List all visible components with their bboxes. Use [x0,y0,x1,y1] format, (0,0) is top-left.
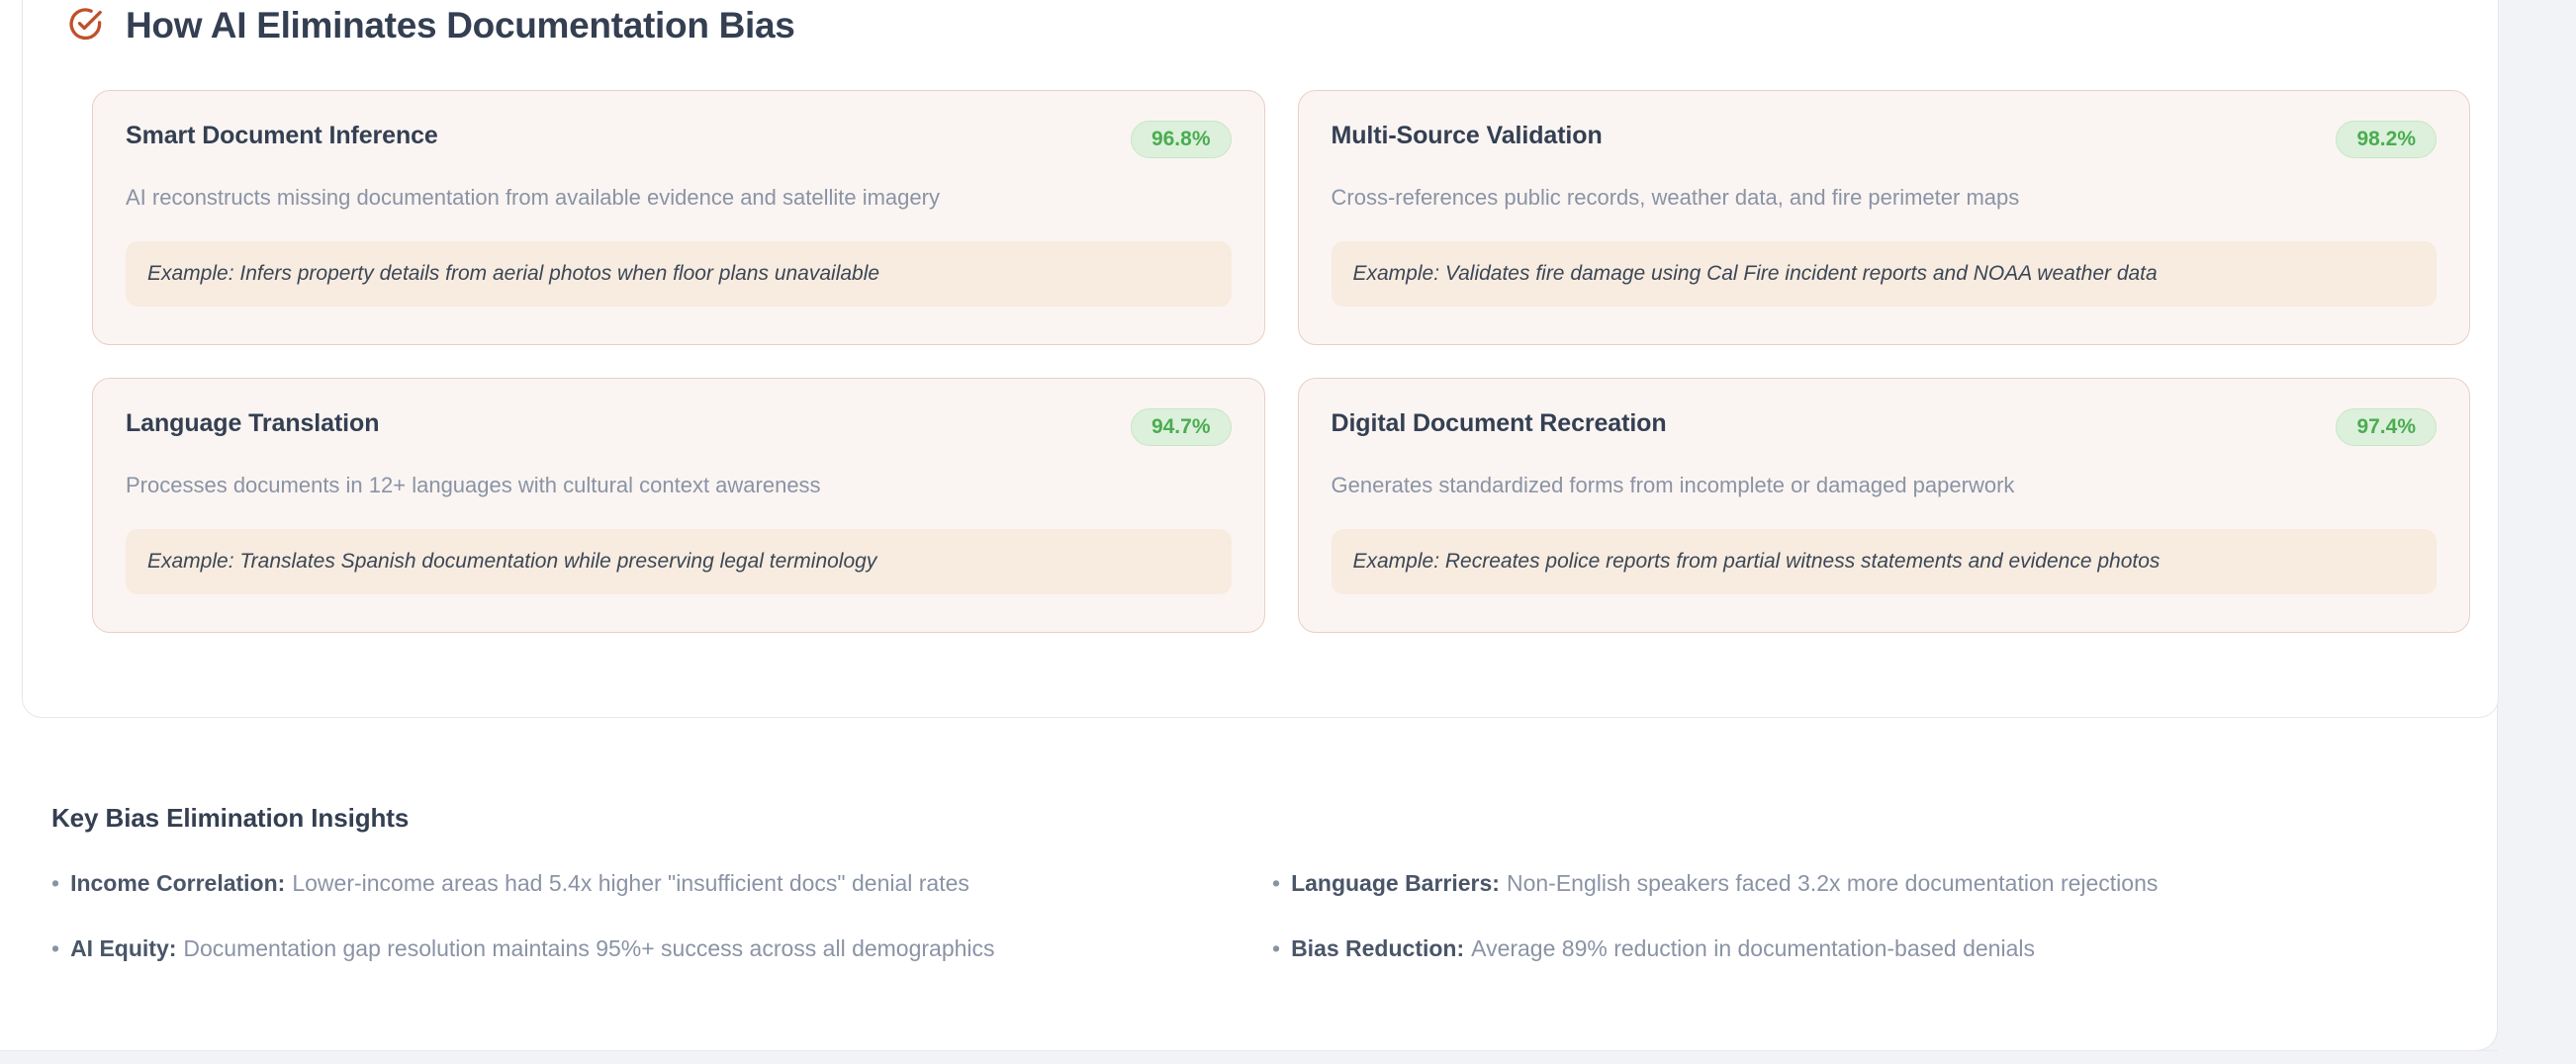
bullet-icon: • [51,867,59,899]
insight-label: AI Equity: [70,935,176,961]
panel-header: How AI Eliminates Documentation Bias [66,6,795,44]
page-surface: How AI Eliminates Documentation Bias Sma… [0,0,2498,1051]
card-example-text: Example: Recreates police reports from p… [1353,547,2416,576]
list-item: • Income Correlation:Lower-income areas … [51,867,1235,899]
insight-label: Bias Reduction: [1291,935,1464,961]
card-header: Language Translation 94.7% [126,408,1232,446]
insight-body: Language Barriers:Non-English speakers f… [1291,867,2158,899]
list-item: • Language Barriers:Non-English speakers… [1272,867,2455,899]
feature-card-grid: Smart Document Inference 96.8% AI recons… [92,90,2470,633]
list-item: • Bias Reduction:Average 89% reduction i… [1272,932,2455,964]
card-description: AI reconstructs missing documentation fr… [126,182,1232,214]
bottom-divider [0,1050,2498,1051]
page-gutter-bottom [0,1052,2576,1064]
card-title: Digital Document Recreation [1332,408,1667,439]
card-example-box: Example: Translates Spanish documentatio… [126,529,1232,594]
list-item: • AI Equity:Documentation gap resolution… [51,932,1235,964]
card-header: Digital Document Recreation 97.4% [1332,408,2438,446]
insight-text: Documentation gap resolution maintains 9… [183,935,994,961]
card-description: Generates standardized forms from incomp… [1332,470,2438,501]
page-gutter-right [2500,0,2576,1064]
card-title: Language Translation [126,408,379,439]
insight-body: Income Correlation:Lower-income areas ha… [70,867,969,899]
key-insights-section: Key Bias Elimination Insights • Income C… [51,803,2455,964]
feature-card[interactable]: Language Translation 94.7% Processes doc… [92,378,1265,633]
accuracy-badge: 94.7% [1131,408,1232,446]
insights-grid: • Income Correlation:Lower-income areas … [51,867,2455,964]
insight-label: Income Correlation: [70,870,285,896]
card-title: Multi-Source Validation [1332,121,1603,151]
bullet-icon: • [1272,932,1280,964]
ai-bias-elimination-panel: How AI Eliminates Documentation Bias Sma… [22,0,2499,718]
card-description: Cross-references public records, weather… [1332,182,2438,214]
bullet-icon: • [1272,867,1280,899]
insight-label: Language Barriers: [1291,870,1500,896]
card-example-text: Example: Validates fire damage using Cal… [1353,259,2416,288]
accuracy-badge: 96.8% [1131,121,1232,158]
check-circle-icon [66,6,104,44]
card-example-box: Example: Validates fire damage using Cal… [1332,241,2438,307]
insight-body: AI Equity:Documentation gap resolution m… [70,932,994,964]
card-title: Smart Document Inference [126,121,438,151]
feature-card[interactable]: Smart Document Inference 96.8% AI recons… [92,90,1265,345]
feature-card[interactable]: Multi-Source Validation 98.2% Cross-refe… [1298,90,2471,345]
card-example-box: Example: Infers property details from ae… [126,241,1232,307]
bullet-icon: • [51,932,59,964]
accuracy-badge: 98.2% [2336,121,2437,158]
insight-text: Non-English speakers faced 3.2x more doc… [1507,870,2158,896]
feature-card[interactable]: Digital Document Recreation 97.4% Genera… [1298,378,2471,633]
card-example-text: Example: Translates Spanish documentatio… [147,547,1210,576]
insight-text: Lower-income areas had 5.4x higher "insu… [292,870,969,896]
insight-body: Bias Reduction:Average 89% reduction in … [1291,932,2035,964]
accuracy-badge: 97.4% [2336,408,2437,446]
card-example-box: Example: Recreates police reports from p… [1332,529,2438,594]
page-title: How AI Eliminates Documentation Bias [126,7,795,44]
card-description: Processes documents in 12+ languages wit… [126,470,1232,501]
insights-heading: Key Bias Elimination Insights [51,803,2455,834]
card-header: Smart Document Inference 96.8% [126,121,1232,158]
insight-text: Average 89% reduction in documentation-b… [1471,935,2035,961]
card-header: Multi-Source Validation 98.2% [1332,121,2438,158]
card-example-text: Example: Infers property details from ae… [147,259,1210,288]
